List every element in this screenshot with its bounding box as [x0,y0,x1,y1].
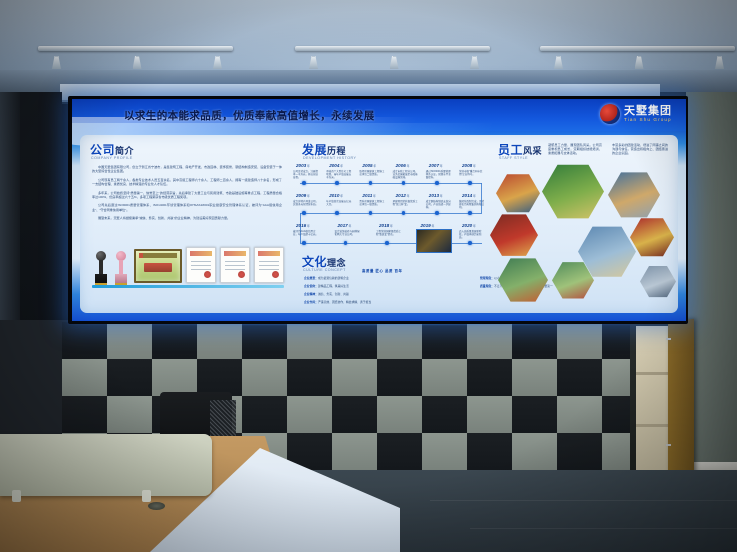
timeline-year: 2016 年 [296,223,310,228]
staff-photo-hex [608,171,660,219]
timeline-entry-text: 承建项目荣获省优质工程"钱江杯"奖。 [393,200,419,206]
culture-title-big: 文化 [302,255,327,269]
timeline-entry-text: 晋升房屋建筑工程施工总承包一级资质。 [359,200,385,206]
timeline-rail [300,183,482,184]
timeline-entry-text: 成立钢结构制造安装分公司，产业链进一步延伸。 [426,200,452,209]
culture-item-value: 诚信、务实、创新、共赢 [318,292,349,296]
timeline-year: 2018 年 [379,223,393,228]
staff-subtitle: STAFF STYLE [499,156,528,160]
awards-shelf [92,285,284,288]
history-title-small: 历程 [327,146,346,156]
timeline-dot [468,241,472,245]
led-video-wall[interactable]: 以求生的本能求品质，优质奉献高值增长，永续发展 天墅集团 Tian Shu Gr… [72,99,686,321]
company-title-small: 简介 [115,146,134,156]
divider-foot [142,490,151,502]
award-trophy-pink [114,251,128,285]
timeline-year: 2019 年 [421,223,435,228]
acoustic-panel [332,322,377,359]
acoustic-panel [422,396,467,433]
award-trophy-gold [94,251,108,285]
banner-headline: 以求生的本能求品质，优质奉献高值增长，永续发展 [124,107,484,125]
company-title-big: 公司 [90,143,115,157]
staff-photo-hex [630,217,674,257]
culture-motto: 高质量 匠心 品质 百年 [362,268,403,273]
acoustic-panel [467,359,512,396]
timeline-entry-text: 荣获市级"重合同守信用"企业称号。 [459,170,485,176]
divider-foot [12,490,21,502]
staff-photo-hex [496,173,540,213]
cabinet-door[interactable] [668,319,694,482]
logo-name-en: Tian Shu Group [624,117,672,123]
acoustic-panel [557,396,602,433]
track-light-bar [38,46,233,51]
timeline-dot [369,181,373,185]
timeline-dot [402,211,406,215]
cabinet-hinge-icon [666,338,671,340]
acoustic-panel [467,322,512,359]
acoustic-panel [107,396,152,433]
acoustic-panel [377,322,422,359]
timeline-dot [468,181,472,185]
company-logo: 天墅集团 Tian Shu Group [600,104,672,124]
acoustic-panel [512,359,557,396]
culture-row: 企业愿景：成为最受信赖的建筑企业 [304,277,384,281]
timeline-year: 2004 年 [329,163,343,168]
acoustic-panel [512,433,557,470]
acoustic-panel [287,359,332,396]
culture-title-small: 理念 [327,258,346,268]
company-paragraph: 多年来，公司始终坚持"质量第一、信誉至上"的经营宗旨，先后承建了大量工业与民用建… [92,191,282,199]
culture-item-label: 企业使命： [304,284,318,288]
timeline-year: 2013 年 [429,193,443,198]
timeline-year: 2005 年 [362,163,376,168]
acoustic-panel [557,322,602,359]
board-content-card: 公司简介 COMPANY PROFILE 中国天墅集团有限公司，创立于浙江省宁波… [80,135,678,313]
timeline-entry-text: 通过ISO9001质量管理体系认证，管理水平全面提升。 [426,170,452,179]
culture-item-value: 严谨高效、团结协作、精益求精、勇于担当 [318,300,371,304]
certificate [186,247,216,283]
desk-divider-panel [0,434,212,496]
timeline-year: 2014 年 [462,193,476,198]
timeline-year: 2008 年 [462,163,476,168]
timeline-dot [335,211,339,215]
certificate [254,247,284,283]
culture-item-label: 企业愿景： [304,276,318,280]
logo-emblem-icon [600,104,620,124]
timeline-entry-text: 成立市政工程分公司，业务范围拓展至市政基础设施领域。 [393,170,419,179]
acoustic-panel [107,322,152,359]
timeline-entry-text: 迈入高质量发展新阶段，产值再创历史新高。 [459,230,485,239]
company-paragraph: 展望未来，天墅人将继续秉承"诚信、务实、创新、共赢"的企业精神，为建设美好家园贡… [92,216,282,220]
timeline-entry-text: 集团化改制完成，正式更名为天墅集团有限公司。 [459,200,485,209]
logo-name-cn: 天墅集团 [624,106,672,117]
culture-item-value: 建精品工程，筑美好生活 [318,284,349,288]
timeline-year: 2006 年 [396,163,410,168]
acoustic-panel [467,396,512,433]
timeline-year: 2020 年 [462,223,476,228]
culture-row: 企业作风：严谨高效、团结协作、精益求精、勇于担当 [304,301,384,305]
staff-text-left: 凝聚员工力量，展现团队风采。公司高度重视员工成长，定期组织技能培训、素质拓展与文… [548,143,602,156]
timeline-year: 2011 年 [362,193,375,198]
timeline-entry-text: 取得房屋建筑工程施工总承包二级资质。 [359,170,385,176]
timeline-entry-text: 成立房地产开发公司，实现多元化经营布局。 [293,200,319,206]
company-paragraph: 公司先后通过ISO9001质量管理体系、ISO14001环境管理体系和OHSAS… [92,203,282,211]
timeline-dot [344,241,348,245]
history-title-big: 发展 [302,143,327,157]
culture-item-label: 企业作风： [304,300,318,304]
track-light-bar [295,46,490,51]
timeline-dot [435,211,439,215]
culture-item-value: 成为最受信赖的建筑企业 [318,276,349,280]
timeline-year: 2007 年 [429,163,443,168]
timeline-entry-text: 公司正式成立，注册资本一千万元，开启创业征程。 [293,170,319,179]
culture-subtitle: CULTURE CONCEPT [303,268,346,272]
acoustic-panel [197,322,242,359]
timeline-entry-text: 被评为AAA级信用企业，年产值超十亿元。 [293,230,319,236]
timeline-year: 2003 年 [296,163,310,168]
timeline-connector [300,213,301,243]
staff-title-small: 风采 [523,146,542,156]
culture-row: 企业使命：建精品工程，筑美好生活 [304,285,384,289]
timeline-year: 2010 年 [329,193,343,198]
timeline-year: 2009 年 [296,193,310,198]
certificate [220,247,250,283]
cabinet-hinge-icon [666,444,671,446]
staff-photo-hex [490,213,538,257]
acoustic-panel [332,433,377,470]
timeline-entry-text: 年产值首次突破五亿元大关。 [326,200,352,206]
company-subtitle: COMPANY PROFILE [91,156,133,160]
track-light-bar [540,46,735,51]
acoustic-panel [197,359,242,396]
timeline-rail [300,243,482,244]
history-subtitle: DEVELOPMENT HISTORY [303,156,356,160]
acoustic-panel [377,359,422,396]
acoustic-panel [152,359,197,396]
timeline-photo [416,229,452,253]
acoustic-panel [332,396,377,433]
timeline-year: 2012 年 [396,193,410,198]
staff-photo-grid [490,165,676,309]
floor-line [430,500,737,501]
staff-title-big: 员工 [498,143,523,157]
acoustic-panel [287,322,332,359]
culture-item-label: 企业精神： [304,292,318,296]
acoustic-panel [422,359,467,396]
acoustic-panel [242,359,287,396]
ceiling-glow [80,0,680,70]
acoustic-panel [557,359,602,396]
timeline-entry-text: 设立装饰装修与园林绿化两大专业公司。 [335,230,361,236]
acoustic-panel [62,359,107,396]
culture-row: 企业精神：诚信、务实、创新、共赢 [304,293,384,297]
staff-photo-hex [542,163,604,220]
acoustic-panel [557,433,602,470]
acoustic-panel [332,359,377,396]
acoustic-panel [152,322,197,359]
awards-row [92,249,284,285]
acoustic-panel [422,433,467,470]
staff-photo-hex [640,265,676,298]
staff-text-right: 丰富多彩的团建活动，增进了同事之间的沟通与信任，营造出积极向上、团结奋进的企业氛… [612,143,668,156]
company-paragraph: 中国天墅集团有限公司，创立于浙江省宁波市，是集建筑工程、房地产开发、市政园林、装… [92,165,282,173]
office-room-scene: 以求生的本能求品质，优质奉献高值增长，永续发展 天墅集团 Tian Shu Gr… [0,0,737,552]
timeline-dot [369,211,373,215]
acoustic-panel [377,433,422,470]
acoustic-panel [242,396,287,433]
timeline-entry-text: 工程荣获国家级优质工程"鲁班奖"提名。 [376,230,402,236]
acoustic-panel [422,322,467,359]
timeline-dot [335,181,339,185]
timeline-entry-text: 承接首个大型住宅工程项目，当年产值突破五千万元。 [326,170,352,179]
timeline-dot [435,181,439,185]
timeline-dot [302,211,306,215]
timeline-dot [402,181,406,185]
timeline-dot [385,241,389,245]
desk-cable-grommet [148,502,165,510]
timeline-dot [302,241,306,245]
acoustic-panel [62,322,107,359]
company-paragraph: 公司现有员工两千余人，各类专业技术人员五百余名，其中高级工程师六十余人、工程师二… [92,178,282,186]
timeline-year: 2017 年 [338,223,352,228]
timeline-rail [300,213,482,214]
award-plaque [134,249,182,283]
acoustic-panel [377,396,422,433]
acoustic-panel [242,322,287,359]
acoustic-panel [512,322,557,359]
acoustic-panel [467,433,512,470]
timeline-dot [302,181,306,185]
acoustic-panel [287,396,332,433]
acoustic-panel [62,396,107,433]
acoustic-panel [107,359,152,396]
staff-photo-hex [498,257,548,303]
timeline-dot [468,211,472,215]
floor-line [470,528,737,529]
acoustic-panel [512,396,557,433]
timeline: 2003 年公司正式成立，注册资本一千万元，开启创业征程。2004 年承接首个大… [298,161,488,257]
